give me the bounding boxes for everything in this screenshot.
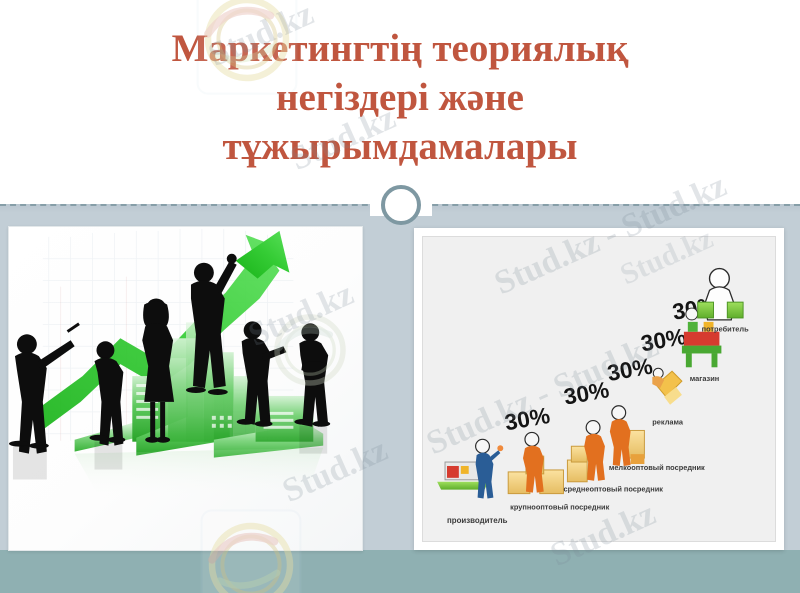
page-title: Маркетингтің теориялық негіздері және тұ… (110, 24, 690, 171)
stage-label-5: реклама (652, 418, 684, 427)
stage-label-4: мелкооптовый посредник (609, 463, 705, 472)
bottom-band (0, 550, 800, 593)
stage-label-7: потребитель (702, 325, 749, 334)
divider-ring-icon (381, 185, 421, 225)
slide-root: Маркетингтің теориялық негіздері және тұ… (0, 0, 800, 593)
divider (0, 196, 800, 222)
left-image-frame (8, 226, 363, 551)
business-growth-illustration (9, 227, 362, 550)
distribution-chain-illustration: производитель 30% крупнооптовый посредни… (423, 237, 775, 541)
stage-label-2: крупнооптовый посредник (510, 502, 609, 511)
stage-label-6: магазин (690, 374, 719, 383)
stage-label-1: производитель (447, 516, 508, 525)
stage-label-3: среднеоптовый посредник (563, 485, 663, 494)
header-band: Маркетингтің теориялық негіздері және тұ… (0, 0, 800, 204)
right-image-frame: производитель 30% крупнооптовый посредни… (414, 228, 784, 550)
right-image-inner: производитель 30% крупнооптовый посредни… (422, 236, 776, 542)
